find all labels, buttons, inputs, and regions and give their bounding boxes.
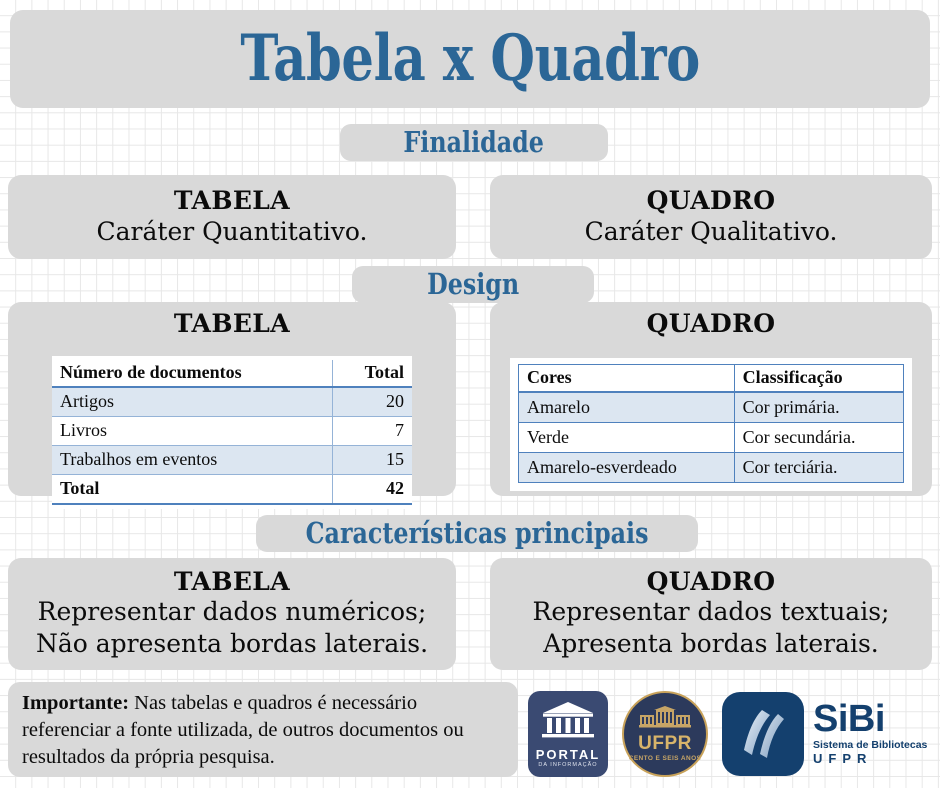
column-header-cores: Cores <box>519 365 735 393</box>
portal-da-informacao-logo: PORTAL DA INFORMAÇÃO <box>528 691 608 777</box>
table-row: Artigos 20 <box>52 387 412 417</box>
temple-icon <box>540 700 596 745</box>
finalidade-quadro-desc: Caráter Qualitativo. <box>585 217 838 247</box>
sibi-book-icon <box>722 692 804 776</box>
column-header-classificacao: Classificação <box>734 365 903 393</box>
quadro-head: Cores Classificação <box>519 365 904 393</box>
infographic-page: Tabela x Quadro Finalidade TABELA Caráte… <box>0 0 940 788</box>
cell-value: 7 <box>333 417 412 446</box>
table-header-row: Número de documentos Total <box>52 360 412 387</box>
design-quadro-label: QUADRO <box>490 310 932 339</box>
caracteristicas-tabela-label: TABELA <box>174 568 290 597</box>
column-header-documentos: Número de documentos <box>52 360 333 387</box>
finalidade-tabela-card: TABELA Caráter Quantitativo. <box>8 175 456 259</box>
cell-label: Trabalhos em eventos <box>52 446 333 475</box>
caracteristicas-quadro-line2: Apresenta bordas laterais. <box>543 628 879 660</box>
quadro-example: Cores Classificação Amarelo Cor primária… <box>518 364 904 483</box>
cell-cor: Amarelo-esverdeado <box>519 453 735 483</box>
cell-value: 15 <box>333 446 412 475</box>
sibi-logo-text: SiBi Sistema de Bibliotecas UFPR <box>813 701 927 767</box>
caracteristicas-quadro-label: QUADRO <box>647 568 776 597</box>
section-heading-caracteristicas: Características principais <box>256 515 698 552</box>
importante-note-text: Importante: Nas tabelas e quadros é nece… <box>22 690 506 771</box>
table-total-row: Total 42 <box>52 475 412 505</box>
caracteristicas-quadro-card: QUADRO Representar dados textuais; Apres… <box>490 558 932 670</box>
caracteristicas-quadro-inner: QUADRO Representar dados textuais; Apres… <box>490 558 932 670</box>
cell-cor: Verde <box>519 423 735 453</box>
portal-logo-name: PORTAL <box>536 748 600 761</box>
cell-value: 42 <box>333 475 412 505</box>
caracteristicas-tabela-inner: TABELA Representar dados numéricos; Não … <box>8 558 456 670</box>
tabela-example-wrapper: Número de documentos Total Artigos 20 Li… <box>52 356 412 509</box>
cell-label: Total <box>52 475 333 505</box>
caracteristicas-tabela-line1: Representar dados numéricos; <box>38 596 427 628</box>
caracteristicas-quadro-line1: Representar dados textuais; <box>533 596 890 628</box>
importante-note-card: Importante: Nas tabelas e quadros é nece… <box>8 682 518 777</box>
finalidade-tabela-desc: Caráter Quantitativo. <box>97 217 368 247</box>
table-row: Verde Cor secundária. <box>519 423 904 453</box>
cell-value: 20 <box>333 387 412 417</box>
caracteristicas-tabela-card: TABELA Representar dados numéricos; Não … <box>8 558 456 670</box>
caracteristicas-tabela-line2: Não apresenta bordas laterais. <box>36 628 428 660</box>
tabela-example: Número de documentos Total Artigos 20 Li… <box>52 360 412 505</box>
quadro-example-wrapper: Cores Classificação Amarelo Cor primária… <box>510 358 912 491</box>
finalidade-quadro-label: QUADRO <box>647 187 776 216</box>
cell-label: Artigos <box>52 387 333 417</box>
quadro-body: Amarelo Cor primária. Verde Cor secundár… <box>519 392 904 483</box>
cell-classificacao: Cor terciária. <box>734 453 903 483</box>
sibi-logo: SiBi Sistema de Bibliotecas UFPR <box>722 692 927 776</box>
column-header-total: Total <box>333 360 412 387</box>
tabela-head: Número de documentos Total <box>52 360 412 387</box>
table-row: Amarelo Cor primária. <box>519 392 904 423</box>
table-row: Trabalhos em eventos 15 <box>52 446 412 475</box>
sibi-logo-sub2: UFPR <box>813 752 927 766</box>
design-tabela-card: TABELA Número de documentos Total Artigo… <box>8 302 456 496</box>
finalidade-quadro-card: QUADRO Caráter Qualitativo. <box>490 175 932 259</box>
page-title: Tabela x Quadro <box>240 27 699 91</box>
section-heading-label: Design <box>427 270 519 299</box>
table-header-row: Cores Classificação <box>519 365 904 393</box>
title-banner: Tabela x Quadro <box>10 10 930 108</box>
portal-logo-sub: DA INFORMAÇÃO <box>538 763 597 769</box>
ufpr-seal-logo: UFPR CENTO E SEIS ANOS <box>622 691 708 777</box>
cell-classificacao: Cor secundária. <box>734 423 903 453</box>
logo-strip: PORTAL DA INFORMAÇÃO <box>528 686 936 782</box>
importante-note-lead: Importante: <box>22 692 129 714</box>
finalidade-tabela-label: TABELA <box>174 187 290 216</box>
table-row: Livros 7 <box>52 417 412 446</box>
design-tabela-label: TABELA <box>8 310 456 339</box>
tabela-body: Artigos 20 Livros 7 Trabalhos em eventos… <box>52 387 412 504</box>
ufpr-logo-name: UFPR <box>638 734 692 753</box>
section-heading-finalidade: Finalidade <box>340 124 608 161</box>
section-heading-design: Design <box>352 266 594 303</box>
ufpr-logo-sub: CENTO E SEIS ANOS <box>629 756 702 763</box>
section-heading-label: Finalidade <box>404 128 544 157</box>
cell-label: Livros <box>52 417 333 446</box>
table-row: Amarelo-esverdeado Cor terciária. <box>519 453 904 483</box>
cell-classificacao: Cor primária. <box>734 392 903 423</box>
section-heading-label: Características principais <box>306 519 649 548</box>
design-quadro-card: QUADRO Cores Classificação Amarelo Cor p… <box>490 302 932 496</box>
cell-cor: Amarelo <box>519 392 735 423</box>
ufpr-building-icon <box>639 706 691 733</box>
sibi-logo-name: SiBi <box>813 701 927 737</box>
